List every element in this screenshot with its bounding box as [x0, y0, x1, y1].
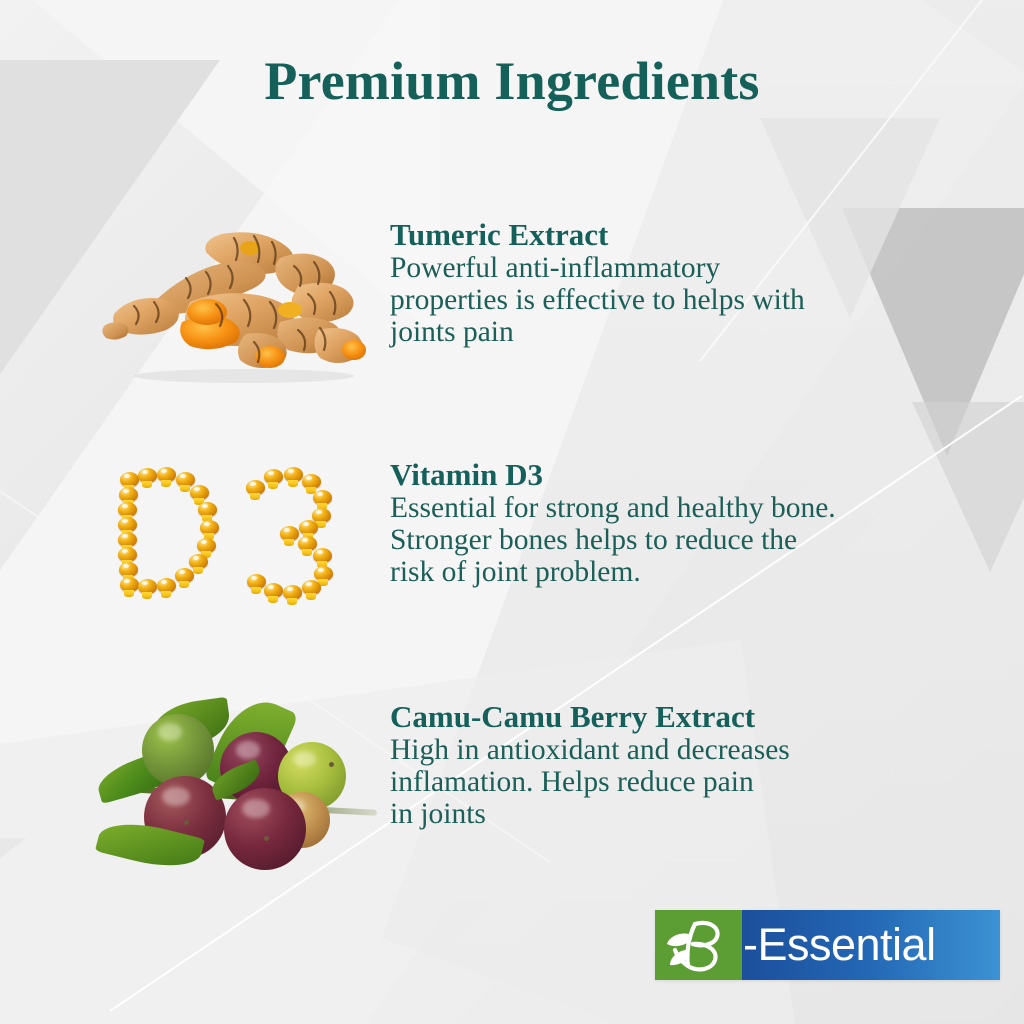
berry-highlight	[242, 799, 270, 819]
description-line: in joints	[390, 799, 1004, 831]
berry-calyx	[264, 836, 269, 841]
ingredient-description: Essential for strong and healthy bone. S…	[390, 493, 984, 589]
berry-shape	[142, 714, 214, 786]
berry-highlight	[158, 723, 182, 740]
ingredient-list: Tumeric Extract Powerful anti-inflammato…	[0, 0, 1024, 1024]
ingredient-name: Tumeric Extract	[390, 219, 984, 252]
b-leaf-icon	[655, 910, 742, 980]
berry-highlight	[236, 741, 260, 758]
ingredient-name: Vitamin D3	[390, 459, 984, 492]
ingredient-description: High in antioxidant and decreases inflam…	[390, 735, 1004, 831]
description-line: properties is effective to helps with	[390, 285, 984, 317]
ingredient-image-camu-camu	[84, 690, 384, 875]
ingredient-row-turmeric: Tumeric Extract Powerful anti-inflammato…	[84, 216, 984, 386]
ingredient-image-turmeric	[84, 216, 384, 386]
description-line: Essential for strong and healthy bone.	[390, 493, 984, 525]
berry-highlight	[293, 751, 316, 767]
berry-shape	[224, 788, 306, 870]
ingredient-text-camu-camu: Camu-Camu Berry Extract High in antioxid…	[390, 690, 1004, 830]
description-line: inflamation. Helps reduce pain	[390, 767, 1004, 799]
description-line: Powerful anti-inflammatory	[390, 253, 984, 285]
description-line: High in antioxidant and decreases	[390, 735, 1004, 767]
ingredient-name: Camu-Camu Berry Extract	[390, 701, 1004, 734]
ingredient-text-turmeric: Tumeric Extract Powerful anti-inflammato…	[390, 216, 984, 348]
premium-ingredients-poster: Premium Ingredients	[0, 0, 1024, 1024]
berry-calyx	[184, 820, 189, 825]
ingredient-row-vitamin-d3: Vitamin D3 Essential for strong and heal…	[84, 450, 984, 625]
description-line: Stronger bones helps to reduce the	[390, 525, 984, 557]
d3-capsules-icon	[102, 458, 367, 618]
description-line: risk of joint problem.	[390, 557, 984, 589]
b-leaf-glyph	[655, 910, 742, 980]
berry-calyx	[329, 762, 334, 767]
ingredient-image-vitamin-d3	[84, 450, 384, 625]
ingredient-description: Powerful anti-inflammatory properties is…	[390, 253, 984, 349]
turmeric-root-icon	[94, 226, 384, 386]
berry-highlight	[162, 787, 190, 807]
description-line: joints pain	[390, 317, 984, 349]
ingredient-row-camu-camu: Camu-Camu Berry Extract High in antioxid…	[84, 690, 1004, 875]
brand-logo[interactable]: -Essential	[655, 910, 1000, 980]
logo-wordmark: -Essential	[742, 910, 1000, 980]
ingredient-text-vitamin-d3: Vitamin D3 Essential for strong and heal…	[390, 450, 984, 588]
camu-camu-berries-icon	[92, 696, 384, 876]
